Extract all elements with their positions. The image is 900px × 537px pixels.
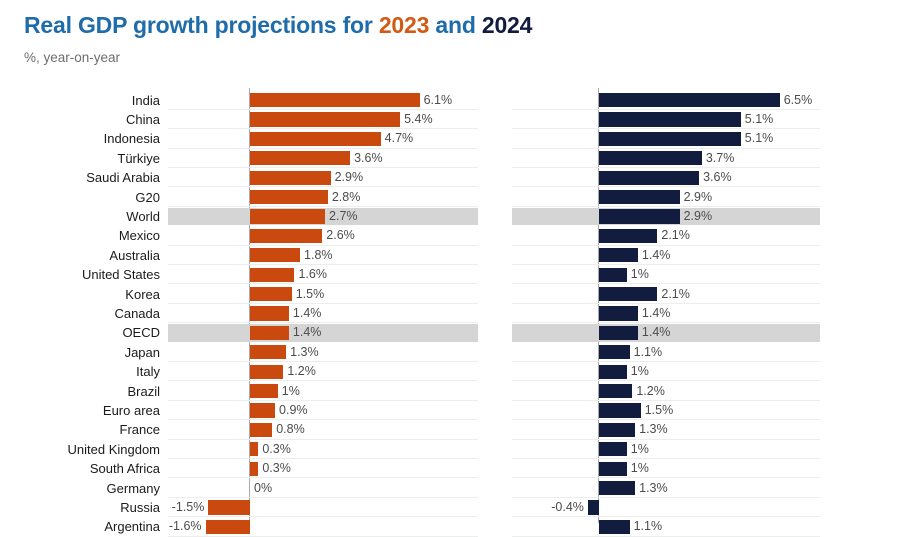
- title-year-2024: 2024: [482, 12, 532, 38]
- value-label-2024: 2.9%: [684, 189, 713, 206]
- bar-2024: [599, 287, 657, 301]
- chart-row: Korea1.5%2.1%: [0, 285, 900, 304]
- chart-header: Real GDP growth projections for 2023 and…: [24, 14, 532, 37]
- bar-2023: [250, 171, 331, 185]
- category-label: Canada: [0, 305, 160, 322]
- bar-2024: [599, 442, 627, 456]
- bar-2023: [250, 384, 278, 398]
- category-label: Mexico: [0, 227, 160, 244]
- value-label-2024: 1.3%: [639, 480, 668, 497]
- bar-2023: [208, 500, 250, 514]
- value-label-2023: 6.1%: [424, 92, 453, 109]
- chart-row: Italy1.2%1%: [0, 362, 900, 381]
- value-label-2024: 3.7%: [706, 150, 735, 167]
- bar-2024: [599, 326, 638, 340]
- bar-2024: [599, 209, 680, 223]
- bar-2023: [250, 229, 322, 243]
- category-label: Korea: [0, 286, 160, 303]
- bar-2023: [250, 403, 275, 417]
- bar-2024: [599, 132, 741, 146]
- chart-row: Germany0%1.3%: [0, 479, 900, 498]
- value-label-2024: 1%: [631, 460, 649, 477]
- chart-row: Mexico2.6%2.1%: [0, 226, 900, 245]
- category-label: South Africa: [0, 460, 160, 477]
- category-label: Argentina: [0, 518, 160, 535]
- bar-2024: [599, 229, 657, 243]
- bar-2023: [250, 365, 283, 379]
- value-label-2023: 1.4%: [293, 324, 322, 341]
- value-label-2023: 3.6%: [354, 150, 383, 167]
- value-label-2024: 1%: [631, 266, 649, 283]
- bar-2024: [588, 500, 599, 514]
- value-label-2023: 0.3%: [262, 460, 291, 477]
- bar-2024: [599, 112, 741, 126]
- category-label: G20: [0, 189, 160, 206]
- category-label: Germany: [0, 480, 160, 497]
- bar-2024: [599, 462, 627, 476]
- bar-2023: [250, 190, 328, 204]
- value-label-2024: 1.4%: [642, 247, 671, 264]
- bar-2024: [599, 306, 638, 320]
- value-label-2023: 2.8%: [332, 189, 361, 206]
- value-label-2024: 2.1%: [661, 286, 690, 303]
- value-label-2024: 6.5%: [784, 92, 813, 109]
- bar-2024: [599, 171, 699, 185]
- value-label-2023: 1.2%: [287, 363, 316, 380]
- bar-2024: [599, 345, 630, 359]
- bar-2023: [250, 442, 258, 456]
- value-label-2024: 1.3%: [639, 421, 668, 438]
- value-label-2023: -1.5%: [172, 499, 205, 516]
- value-label-2024: 1%: [631, 441, 649, 458]
- chart-row: United Kingdom0.3%1%: [0, 440, 900, 459]
- value-label-2023: 2.7%: [329, 208, 358, 225]
- bar-2024: [599, 93, 780, 107]
- title-year-2023: 2023: [379, 12, 429, 38]
- chart-page: Real GDP growth projections for 2023 and…: [0, 0, 900, 523]
- value-label-2023: 2.6%: [326, 227, 355, 244]
- bar-2024: [599, 520, 630, 534]
- bar-2023: [206, 520, 250, 534]
- value-label-2023: 1.4%: [293, 305, 322, 322]
- value-label-2023: 2.9%: [335, 169, 364, 186]
- bar-2024: [599, 403, 641, 417]
- bar-2023: [250, 462, 258, 476]
- value-label-2024: 5.1%: [745, 130, 774, 147]
- bar-2024: [599, 365, 627, 379]
- value-label-2024: 1.4%: [642, 324, 671, 341]
- category-label: Japan: [0, 344, 160, 361]
- bar-2023: [250, 423, 272, 437]
- value-label-2024: 3.6%: [703, 169, 732, 186]
- bar-2024: [599, 423, 635, 437]
- category-label: Euro area: [0, 402, 160, 419]
- bar-2024: [599, 384, 632, 398]
- chart-row: India6.1%6.5%: [0, 91, 900, 110]
- bar-2024: [599, 151, 702, 165]
- bar-2023: [250, 132, 381, 146]
- chart-area: India6.1%6.5%China5.4%5.1%Indonesia4.7%5…: [0, 88, 900, 523]
- title-conjunction: and: [429, 12, 482, 38]
- page-title: Real GDP growth projections for 2023 and…: [24, 14, 532, 37]
- bar-2023: [250, 306, 289, 320]
- chart-row: Australia1.8%1.4%: [0, 246, 900, 265]
- value-label-2024: 2.9%: [684, 208, 713, 225]
- bar-2023: [250, 209, 325, 223]
- category-label: United Kingdom: [0, 441, 160, 458]
- chart-row: Indonesia4.7%5.1%: [0, 129, 900, 148]
- category-label: United States: [0, 266, 160, 283]
- value-label-2024: 2.1%: [661, 227, 690, 244]
- bar-2023: [250, 326, 289, 340]
- chart-row: South Africa0.3%1%: [0, 459, 900, 478]
- value-label-2024: -0.4%: [551, 499, 584, 516]
- category-label: Australia: [0, 247, 160, 264]
- chart-row: Canada1.4%1.4%: [0, 304, 900, 323]
- value-label-2024: 5.1%: [745, 111, 774, 128]
- chart-row: Türkiye3.6%3.7%: [0, 149, 900, 168]
- chart-subtitle: %, year-on-year: [24, 50, 120, 65]
- value-label-2023: 5.4%: [404, 111, 433, 128]
- chart-row: OECD1.4%1.4%: [0, 323, 900, 342]
- chart-row: Euro area0.9%1.5%: [0, 401, 900, 420]
- category-label: Indonesia: [0, 130, 160, 147]
- chart-row: Saudi Arabia2.9%3.6%: [0, 168, 900, 187]
- value-label-2023: 4.7%: [385, 130, 414, 147]
- title-text-part1: Real GDP growth projections for: [24, 12, 379, 38]
- value-label-2023: 0.8%: [276, 421, 305, 438]
- chart-row: Russia-1.5%-0.4%: [0, 498, 900, 517]
- bar-2023: [250, 151, 350, 165]
- value-label-2024: 1.4%: [642, 305, 671, 322]
- bar-2024: [599, 248, 638, 262]
- value-label-2024: 1.5%: [645, 402, 674, 419]
- value-label-2023: 1.6%: [298, 266, 327, 283]
- value-label-2023: 0%: [254, 480, 272, 497]
- category-label: China: [0, 111, 160, 128]
- bar-2024: [599, 481, 635, 495]
- bar-2023: [250, 268, 294, 282]
- value-label-2023: 1.3%: [290, 344, 319, 361]
- category-label: France: [0, 421, 160, 438]
- chart-row: Brazil1%1.2%: [0, 382, 900, 401]
- bar-2023: [250, 112, 400, 126]
- value-label-2023: 0.9%: [279, 402, 308, 419]
- chart-row: United States1.6%1%: [0, 265, 900, 284]
- category-label: Brazil: [0, 383, 160, 400]
- category-label: Saudi Arabia: [0, 169, 160, 186]
- category-label: OECD: [0, 324, 160, 341]
- chart-row: China5.4%5.1%: [0, 110, 900, 129]
- bar-2024: [599, 190, 680, 204]
- chart-row: G202.8%2.9%: [0, 188, 900, 207]
- category-label: World: [0, 208, 160, 225]
- value-label-2024: 1.1%: [634, 344, 663, 361]
- chart-row: Japan1.3%1.1%: [0, 343, 900, 362]
- value-label-2023: 0.3%: [262, 441, 291, 458]
- chart-row: World2.7%2.9%: [0, 207, 900, 226]
- category-label: Russia: [0, 499, 160, 516]
- value-label-2023: 1.5%: [296, 286, 325, 303]
- category-label: Türkiye: [0, 150, 160, 167]
- value-label-2024: 1%: [631, 363, 649, 380]
- chart-row: France0.8%1.3%: [0, 420, 900, 439]
- bar-2024: [599, 268, 627, 282]
- category-label: Italy: [0, 363, 160, 380]
- bar-2023: [250, 287, 292, 301]
- highlight-band-2023: [168, 324, 478, 341]
- value-label-2023: 1%: [282, 383, 300, 400]
- bar-2023: [250, 248, 300, 262]
- bar-2023: [250, 93, 420, 107]
- value-label-2023: -1.6%: [169, 518, 202, 535]
- category-label: India: [0, 92, 160, 109]
- value-label-2023: 1.8%: [304, 247, 333, 264]
- value-label-2024: 1.2%: [636, 383, 665, 400]
- bar-2023: [250, 345, 286, 359]
- chart-row: Argentina-1.6%1.1%: [0, 517, 900, 536]
- value-label-2024: 1.1%: [634, 518, 663, 535]
